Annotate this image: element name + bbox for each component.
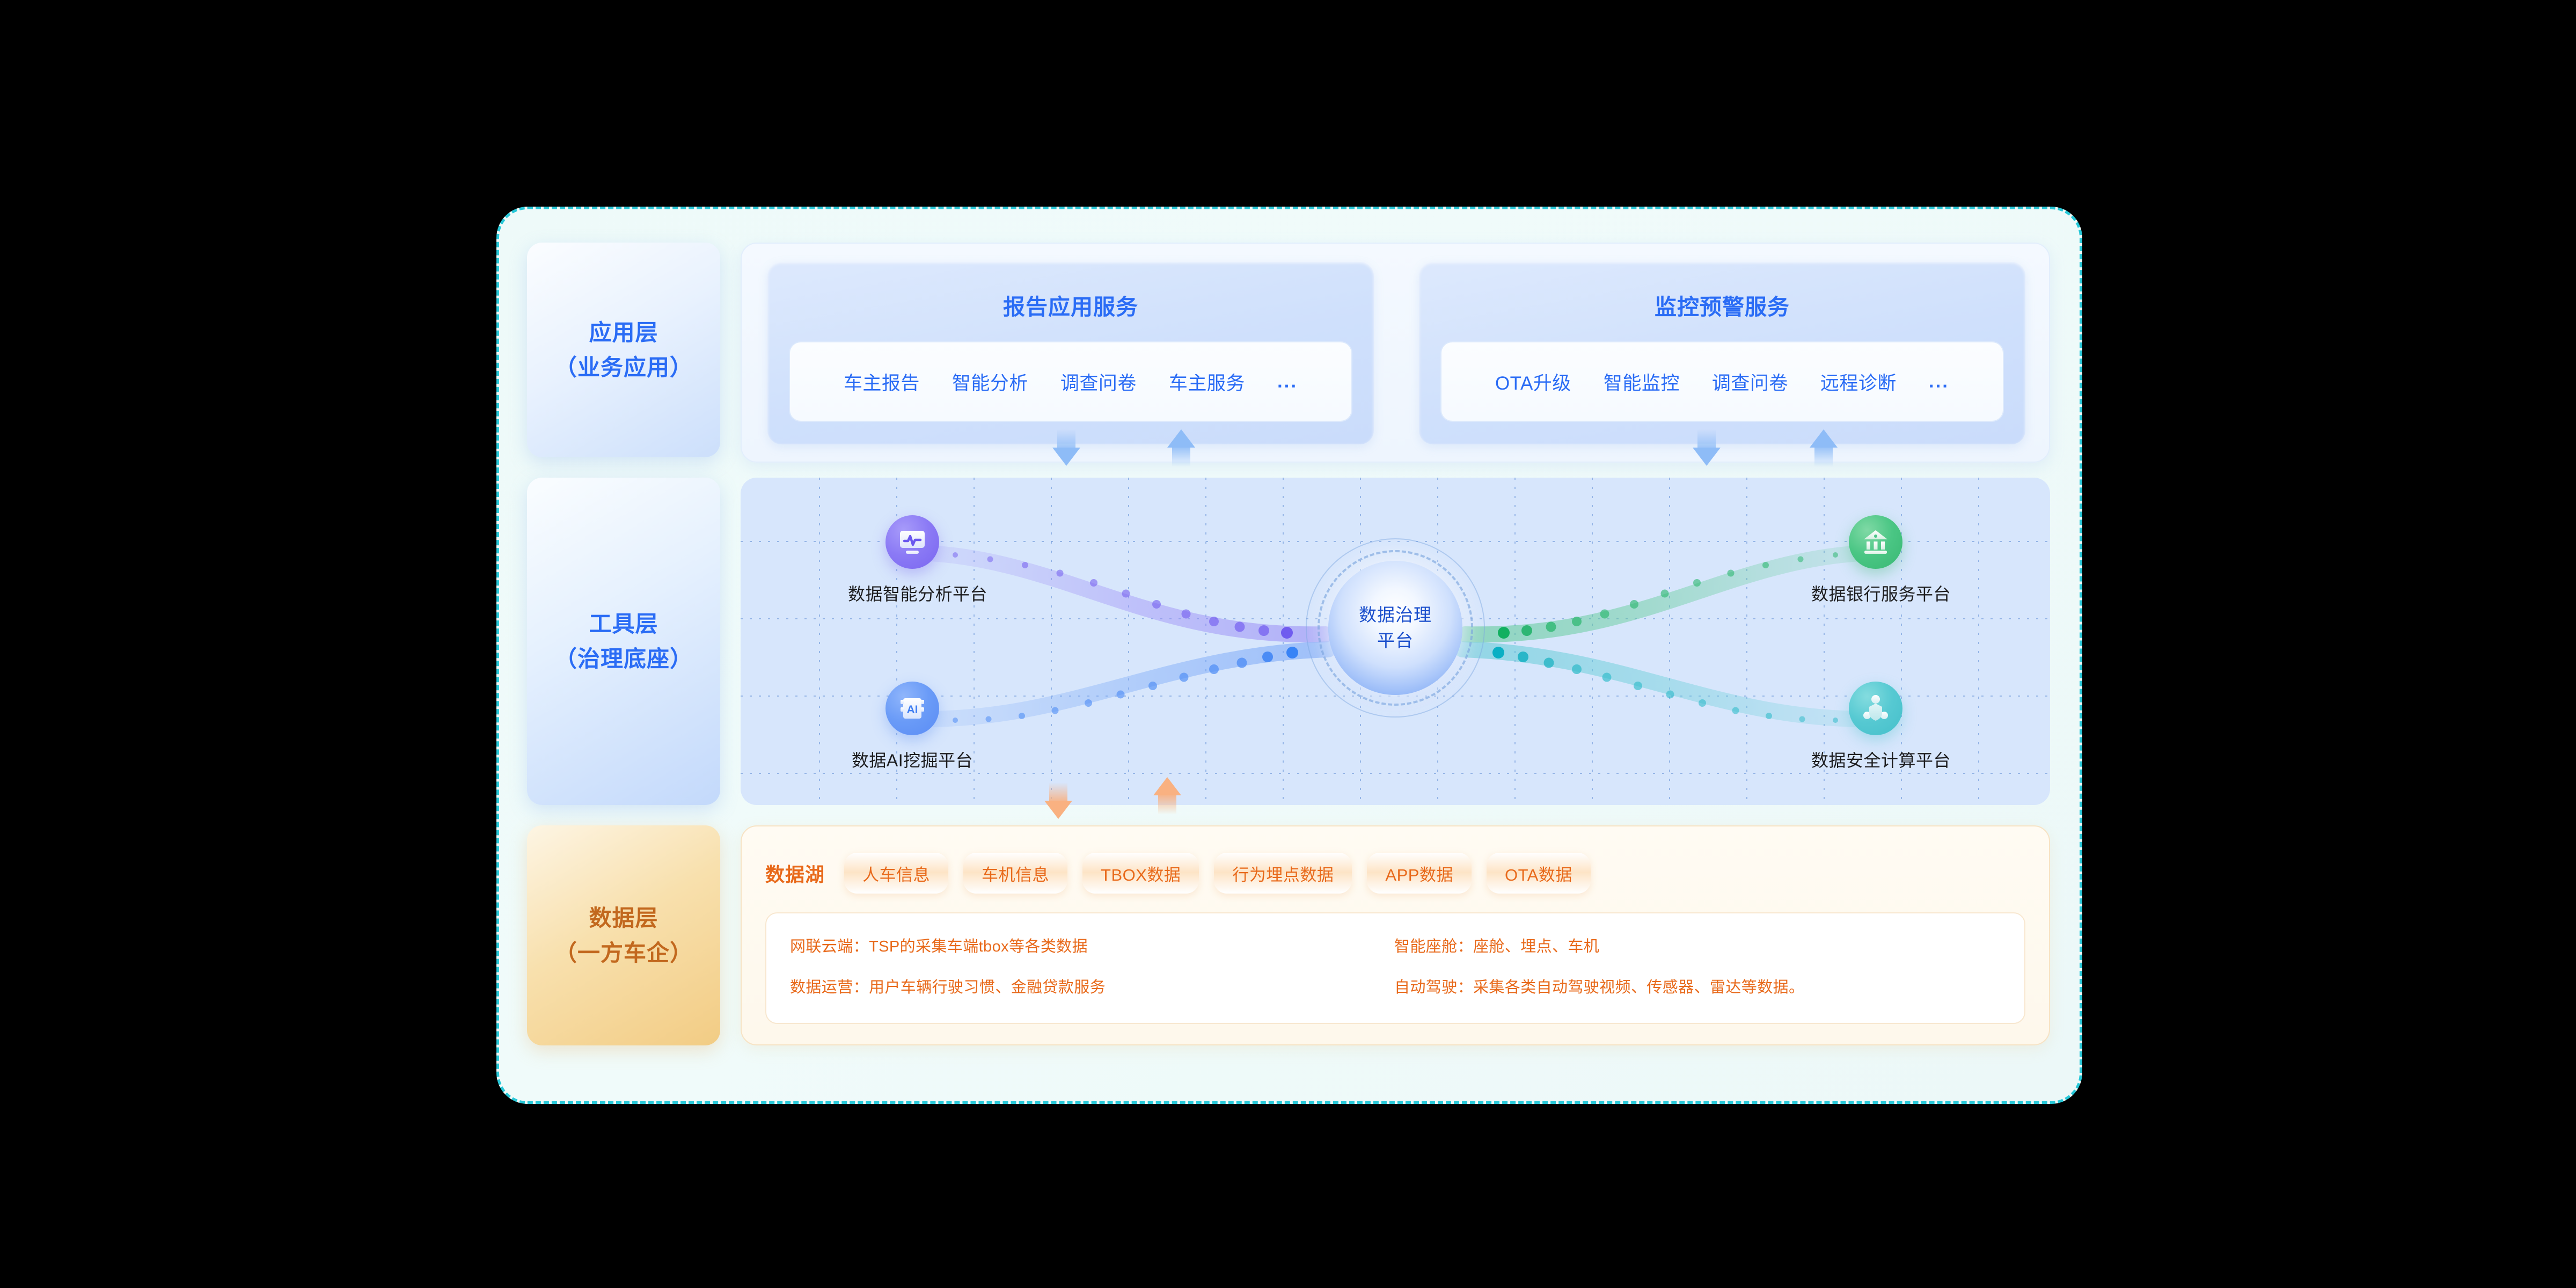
app-chip-survey-2[interactable]: 调查问卷 — [1712, 368, 1788, 396]
data-lake-tag-row: 数据湖 人车信息 车机信息 TBOX数据 行为埋点数据 APP数据 OTA数据 — [765, 846, 2025, 901]
rail-card-application-layer: 应用层 （业务应用） — [527, 243, 720, 457]
lake-tag-tbox[interactable]: TBOX数据 — [1082, 853, 1199, 894]
description-line-autonomous: 自动驾驶：采集各类自动驾驶视频、传感器、雷达等数据。 — [1394, 975, 1804, 997]
platform-node-data-bank[interactable]: 数据银行服务平台 — [1811, 515, 1940, 605]
app-card-monitor-chip-row: OTA升级 智能监控 调查问卷 远程诊断 ... — [1440, 341, 2004, 422]
app-card-report-service[interactable]: 报告应用服务 车主报告 智能分析 调查问卷 车主服务 ... — [767, 262, 1374, 444]
app-card-report-chip-row: 车主报告 智能分析 调查问卷 车主服务 ... — [789, 341, 1352, 422]
lake-tag-behavior-tracking[interactable]: 行为埋点数据 — [1214, 853, 1352, 894]
lake-tag-vehicle-machine[interactable]: 车机信息 — [963, 853, 1067, 894]
rail-data-line1: 数据层 — [589, 901, 658, 935]
description-line-cockpit: 智能座舱：座舱、埋点、车机 — [1394, 934, 1804, 956]
data-lake-title: 数据湖 — [765, 859, 825, 887]
data-layer-band: 数据湖 人车信息 车机信息 TBOX数据 行为埋点数据 APP数据 OTA数据 … — [741, 825, 2050, 1045]
hub-core-sphere: 数据治理 平台 — [1328, 561, 1462, 695]
data-source-description-box: 网联云端：TSP的采集车端tbox等各类数据 数据运营：用户车辆行驶习惯、金融贷… — [765, 912, 2025, 1024]
lake-tag-ota[interactable]: OTA数据 — [1487, 853, 1591, 894]
platform-label-data-bank: 数据银行服务平台 — [1811, 581, 1940, 605]
rail-data-line2: （一方车企） — [554, 935, 693, 970]
app-chip-more-monitor[interactable]: ... — [1929, 371, 1949, 392]
rail-application-line1: 应用层 — [589, 315, 658, 350]
app-chip-smart-monitor[interactable]: 智能监控 — [1604, 368, 1680, 396]
tool-layer-band: 数据治理 平台 数据智能分析平台 — [741, 478, 2050, 805]
app-chip-smart-analysis[interactable]: 智能分析 — [952, 368, 1028, 396]
ai-chip-icon: AI — [885, 682, 939, 735]
platform-label-data-analysis: 数据智能分析平台 — [848, 581, 977, 605]
central-hub-node[interactable]: 数据治理 平台 — [1328, 561, 1462, 695]
description-line-operation: 数据运营：用户车辆行驶习惯、金融贷款服务 — [790, 975, 1106, 997]
app-chip-ota-upgrade[interactable]: OTA升级 — [1495, 368, 1571, 396]
lake-tag-person-vehicle[interactable]: 人车信息 — [844, 853, 948, 894]
platform-label-data-security: 数据安全计算平台 — [1811, 747, 1940, 772]
description-line-cloud: 网联云端：TSP的采集车端tbox等各类数据 — [790, 934, 1106, 956]
rail-tool-line1: 工具层 — [589, 606, 658, 641]
architecture-diagram-container: 应用层 （业务应用） 工具层 （治理底座） 数据层 （一方车企） 报告应用服务 … — [496, 207, 2082, 1104]
description-column-right: 智能座舱：座舱、埋点、车机 自动驾驶：采集各类自动驾驶视频、传感器、雷达等数据。 — [1394, 934, 1804, 1015]
app-card-monitor-service[interactable]: 监控预警服务 OTA升级 智能监控 调查问卷 远程诊断 ... — [1419, 262, 2025, 444]
app-chip-owner-report[interactable]: 车主报告 — [844, 368, 920, 396]
rail-application-line2: （业务应用） — [554, 350, 693, 385]
hub-label-line1: 数据治理 — [1359, 602, 1432, 628]
app-card-report-title: 报告应用服务 — [767, 289, 1374, 321]
app-chip-owner-service[interactable]: 车主服务 — [1169, 368, 1245, 396]
monitor-chart-icon — [885, 515, 939, 569]
app-chip-more-report[interactable]: ... — [1277, 371, 1298, 392]
description-column-left: 网联云端：TSP的采集车端tbox等各类数据 数据运营：用户车辆行驶习惯、金融贷… — [790, 934, 1106, 1015]
shield-node-icon — [1849, 682, 1902, 735]
platform-node-data-ai-mining[interactable]: AI 数据AI挖掘平台 — [848, 682, 977, 772]
svg-text:AI: AI — [907, 704, 918, 716]
platform-node-data-analysis[interactable]: 数据智能分析平台 — [848, 515, 977, 605]
lake-tag-app[interactable]: APP数据 — [1367, 853, 1472, 894]
rail-card-tool-layer: 工具层 （治理底座） — [527, 478, 720, 805]
platform-node-data-security[interactable]: 数据安全计算平台 — [1811, 682, 1940, 772]
app-chip-survey[interactable]: 调查问卷 — [1060, 368, 1137, 396]
application-layer-band: 报告应用服务 车主报告 智能分析 调查问卷 车主服务 ... 监控预警服务 OT… — [741, 243, 2050, 463]
bank-building-icon — [1849, 515, 1902, 569]
rail-tool-line2: （治理底座） — [554, 641, 693, 676]
hub-label-line2: 平台 — [1377, 628, 1414, 654]
app-chip-remote-diagnosis[interactable]: 远程诊断 — [1820, 368, 1897, 396]
app-card-monitor-title: 监控预警服务 — [1419, 289, 2025, 321]
rail-card-data-layer: 数据层 （一方车企） — [527, 825, 720, 1045]
platform-label-data-ai-mining: 数据AI挖掘平台 — [848, 747, 977, 772]
